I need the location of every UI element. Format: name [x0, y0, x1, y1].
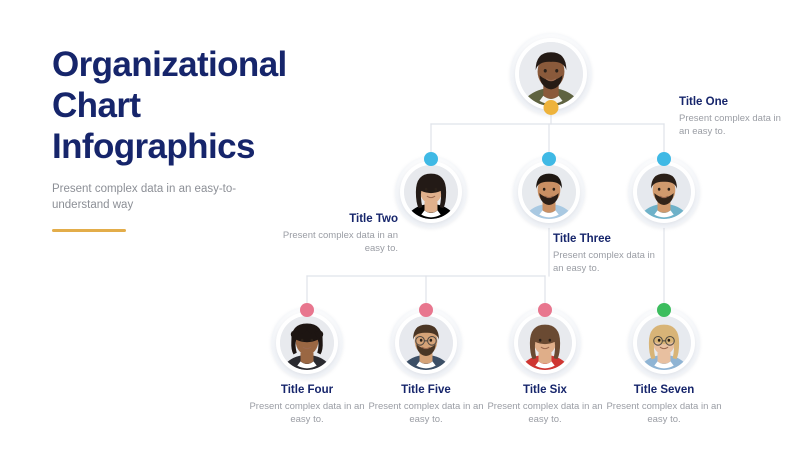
node-title: Title One [679, 95, 791, 110]
node-label-n5: Title FourPresent complex data in an eas… [241, 383, 373, 426]
page-subtitle: Present complex data in an easy-to-under… [52, 181, 267, 213]
node-label-n2: Title TwoPresent complex data in an easy… [266, 212, 398, 255]
pink-dot [538, 303, 552, 317]
avatar-ring [276, 312, 338, 374]
page-title-line-1: Organizational [52, 44, 320, 85]
avatar [404, 165, 458, 219]
avatar-ring [395, 312, 457, 374]
avatar-halo [513, 156, 585, 228]
avatar-ring [633, 161, 695, 223]
heading-block: Organizational Chart Infographics Presen… [52, 44, 320, 232]
node-title: Title Five [360, 383, 492, 398]
node-description: Present complex data in an easy to. [598, 401, 730, 426]
node-description: Present complex data in an easy to. [679, 113, 791, 138]
node-label-n7: Title SixPresent complex data in an easy… [479, 383, 611, 426]
page-title-line-2: Chart [52, 85, 320, 126]
node-label-n6: Title FivePresent complex data in an eas… [360, 383, 492, 426]
node-label-n8: Title SevenPresent complex data in an ea… [598, 383, 730, 426]
page-title-line-3: Infographics [52, 126, 320, 167]
avatar-halo [390, 307, 462, 379]
node-title: Title Seven [598, 383, 730, 398]
avatar-halo [628, 307, 700, 379]
pink-dot [300, 303, 314, 317]
node-description: Present complex data in an easy to. [360, 401, 492, 426]
node-label-n1: Title OnePresent complex data in an easy… [679, 95, 791, 138]
avatar-halo [271, 307, 343, 379]
node-description: Present complex data in an easy to. [553, 250, 668, 275]
node-title: Title Two [266, 212, 398, 227]
node-label-n3: Title ThreePresent complex data in an ea… [553, 232, 668, 275]
avatar-halo [628, 156, 700, 228]
amber-dot [544, 100, 559, 115]
node-title: Title Four [241, 383, 373, 398]
node-title: Title Six [479, 383, 611, 398]
cyan-dot [542, 152, 556, 166]
page-title: Organizational Chart Infographics [52, 44, 320, 167]
avatar [518, 316, 572, 370]
avatar [399, 316, 453, 370]
avatar [637, 316, 691, 370]
node-description: Present complex data in an easy to. [479, 401, 611, 426]
node-description: Present complex data in an easy to. [241, 401, 373, 426]
avatar-halo [509, 307, 581, 379]
pink-dot [419, 303, 433, 317]
cyan-dot [657, 152, 671, 166]
green-dot [657, 303, 671, 317]
slide-canvas: Organizational Chart Infographics Presen… [0, 0, 800, 450]
cyan-dot [424, 152, 438, 166]
avatar [280, 316, 334, 370]
avatar-ring [518, 161, 580, 223]
accent-underline-bar [52, 229, 126, 232]
avatar-ring [514, 312, 576, 374]
node-description: Present complex data in an easy to. [266, 230, 398, 255]
avatar-halo [395, 156, 467, 228]
avatar [637, 165, 691, 219]
avatar-ring [633, 312, 695, 374]
avatar [522, 165, 576, 219]
avatar [519, 42, 583, 106]
node-title: Title Three [553, 232, 668, 247]
avatar-ring [400, 161, 462, 223]
